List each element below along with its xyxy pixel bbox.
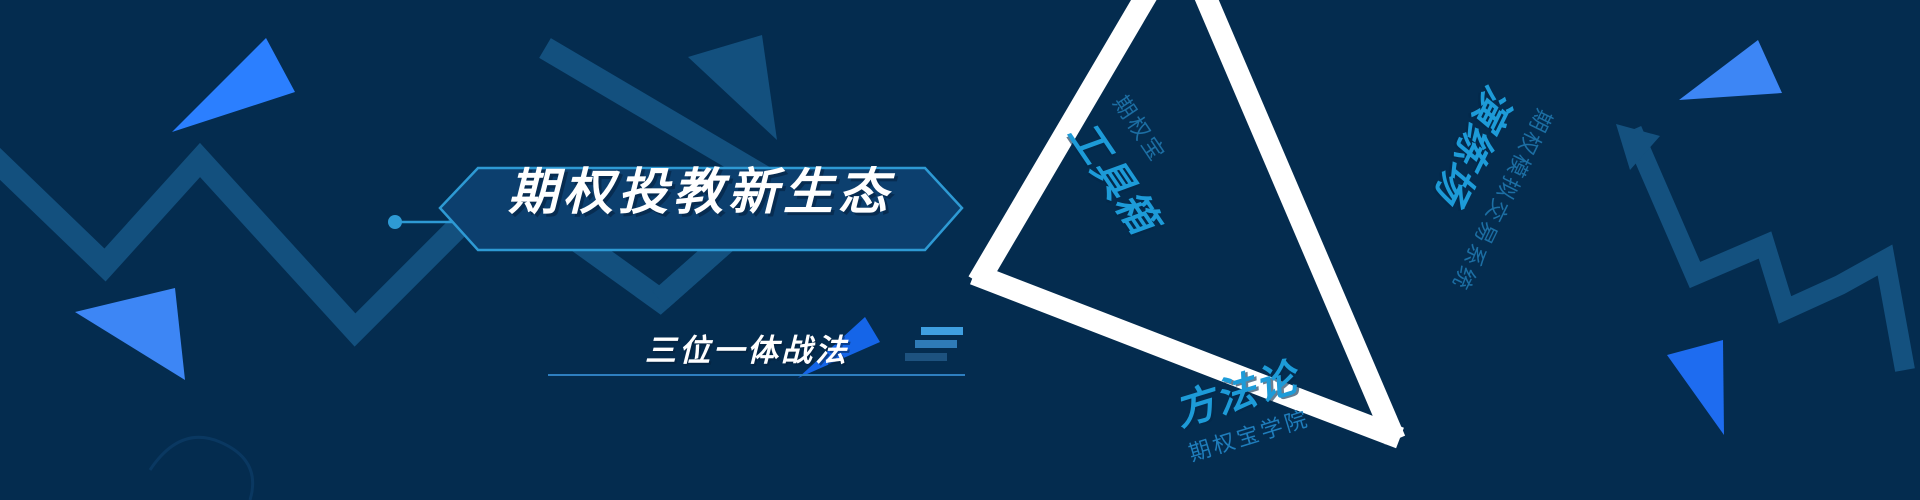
promo-banner: 期权投教新生态 三位一体战法 期权宝 工具箱 期权模拟交易系统 演练场 方法论 … <box>0 0 1920 500</box>
title-badge-shape <box>440 168 962 250</box>
badge-connector-dot <box>388 215 402 229</box>
headline-badge-layer <box>0 0 1920 500</box>
